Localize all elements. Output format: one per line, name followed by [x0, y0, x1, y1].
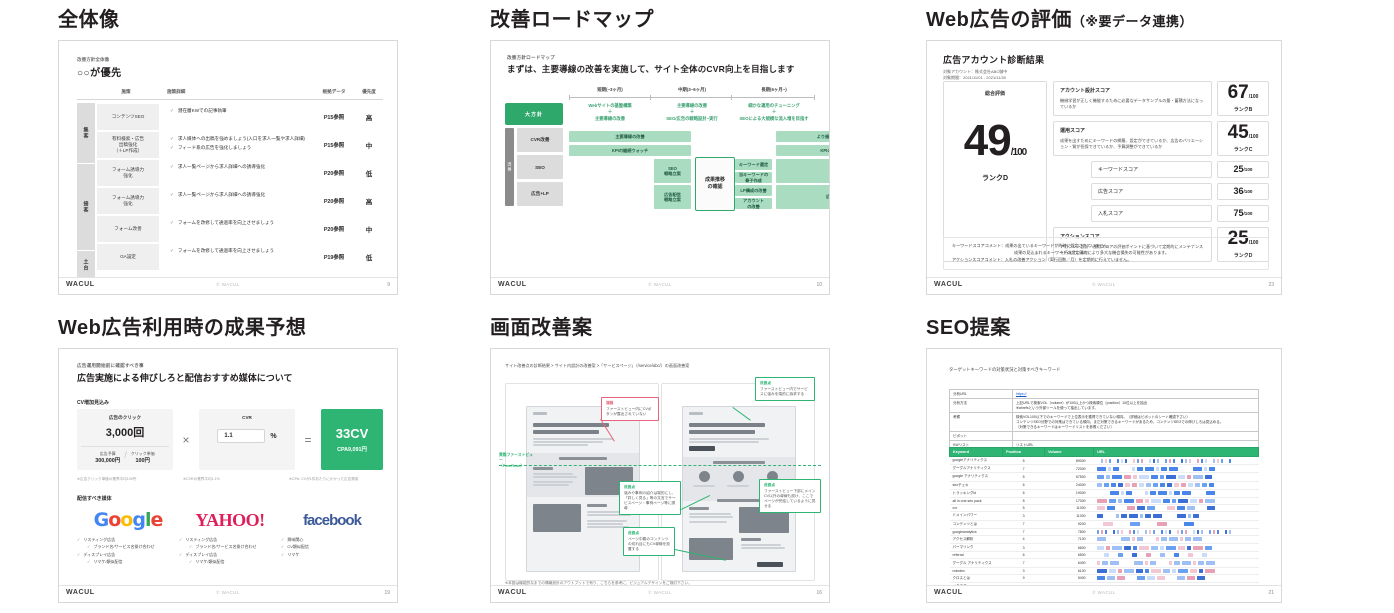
volume-cell: 19000	[1045, 489, 1094, 497]
keyword-cell: googleアナリティクス	[950, 457, 1003, 465]
card-title: 運用スコア	[1060, 127, 1205, 134]
url-cell	[1094, 465, 1259, 473]
copyright: © WACUL	[648, 282, 671, 287]
keyword-row: referral66500	[950, 552, 1259, 559]
slide3-title: 広告アカウント診断結果	[943, 53, 1044, 66]
percent-sign: %	[270, 433, 276, 440]
roadmap-box-midright-1: 当キーワードの 骨子作成	[735, 172, 772, 183]
keyword-row: アクセス解析47100	[950, 535, 1259, 543]
keyword-cell: all in one seo pack	[950, 497, 1003, 504]
position-cell: 7	[1003, 520, 1045, 528]
keyword-row: ドメインパワー311000	[950, 512, 1259, 520]
url-cell	[1094, 520, 1259, 528]
evidence-cell: P20参照	[313, 159, 355, 187]
section-title-ad-evaluation: Web広告の評価（※要データ連携）	[926, 10, 1282, 30]
wacul-logo: WACUL	[934, 589, 963, 596]
measure-cell: フォーム誘導力 強化	[97, 188, 159, 214]
section-forecast: Web広告利用時の成果予想 広告運用開始前に確認すべき事 広告実施による伸びしろ…	[58, 318, 398, 603]
column-header-measure: 施策	[95, 89, 157, 95]
comment-2: アクションスコアコメント：入札の改善アクション（実行回数／月）を定期的に行えてい…	[952, 257, 1260, 263]
detail-cell: ✓求人媒体への出稿を強めましょう(入口を求人一覧や求人詳細)✓フィード系の広告を…	[162, 131, 313, 159]
volume-cell: 6400	[1045, 559, 1094, 567]
table-row: GA設定✓フォームを改修して通過率を向上させましょうP19参照低	[95, 243, 383, 271]
col-volume: Volume	[1045, 448, 1094, 457]
measure-cell: フォーム誘導力 強化	[97, 160, 159, 186]
measure-cell: フォーム改善	[97, 216, 159, 242]
detail-cell: ✓求人一覧ページから求人詳細への誘導強化	[162, 187, 313, 215]
score-operation: 45/100 ランクC	[1217, 121, 1269, 156]
roadmap-box-midright-3: アカウント の改善	[735, 198, 772, 209]
divider-slash: /	[124, 451, 127, 461]
slide-footer: WACUL © WACUL 19	[59, 585, 397, 602]
click-card: 広告のクリック 3,000回 広告予算300,000円 / クリック単価100円	[77, 409, 173, 470]
wacul-logo: WACUL	[934, 281, 963, 288]
sub-score-label: キーワードスコア	[1091, 161, 1212, 178]
volume-cell: 6500	[1045, 552, 1094, 559]
phase-label-1: 中期(3~6ヶ月)	[651, 87, 733, 93]
total-score-rank: ランクD	[982, 173, 1008, 183]
slide-ad-evaluation[interactable]: 広告アカウント診断結果 対象アカウント：株式会社ABC御中 対象期間：2021/…	[926, 40, 1282, 295]
meta-key: 考察	[950, 413, 1013, 432]
detail-cell: ✓フォームを改修して通過率を向上させましょう	[162, 243, 313, 271]
detail-cell: ✓潜在層KWでの記事執筆	[162, 103, 313, 131]
card-desc: 機械学習が正しく機能するために必要なデータサンプルの量・蓄積方法になっているか	[1060, 98, 1205, 110]
cvr-label: CVR	[203, 415, 291, 420]
keyword-table-header: Keyword Position Volume URL	[950, 448, 1259, 457]
axis-label-0: 集客	[77, 103, 95, 163]
section-title-overview: 全体像	[58, 10, 398, 30]
meta-row: 分析URLhttps://	[950, 390, 1259, 399]
position-cell: 3	[1003, 544, 1045, 552]
position-cell: 5	[1003, 505, 1045, 512]
keyword-row: クロスとは95400	[950, 574, 1259, 582]
cv-forecast-label: CV増加見込み	[77, 399, 109, 406]
keyword-row: noindex36100	[950, 567, 1259, 574]
sub-score-ad: 広告スコア 36/100	[1091, 183, 1269, 200]
table-header-row: 施策 施策詳細 根拠データ 優先度	[77, 89, 383, 100]
slide-forecast[interactable]: 広告運用開始前に確認すべき事 広告実施による伸びしろと配信おすすめ媒体について …	[58, 348, 398, 603]
url-cell	[1094, 544, 1259, 552]
copyright: © WACUL	[1092, 590, 1115, 595]
media-bullet: ✓リスティング広告	[77, 537, 179, 542]
keyword-row: googleanalytics77800	[950, 528, 1259, 535]
wacul-logo: WACUL	[66, 281, 95, 288]
keyword-row: google アナリティクス567500	[950, 473, 1259, 481]
wacul-logo: WACUL	[498, 589, 527, 596]
operator-multiply: ×	[178, 409, 194, 470]
keyword-cell: グーグルアナリティクス	[950, 465, 1003, 473]
slide3-meta: 対象アカウント：株式会社ABC御中 対象期間：2021/11/01 - 2021…	[943, 69, 1044, 81]
roadmap-box-mid-1: 広告配信 戦略立案	[654, 185, 691, 209]
copyright: © WACUL	[1092, 282, 1115, 287]
table-row: フォーム誘導力 強化✓求人一覧ページから求人詳細への誘導強化P20参照高	[95, 187, 383, 215]
position-cell: 6	[1003, 552, 1045, 559]
cv-calculation: 広告のクリック 3,000回 広告予算300,000円 / クリック単価100円…	[77, 409, 383, 470]
score-body: 総合評価 49/100 ランクD アカウント設計スコア 機械学習が正しく機能する…	[943, 81, 1269, 262]
media-facebook: facebook ✓興味関心✓CV類似配信✓リマケ	[281, 507, 383, 567]
section-title-seo: SEO提案	[926, 318, 1282, 338]
position-cell: 7	[1003, 528, 1045, 535]
column-header-evidence: 根拠データ	[313, 89, 355, 95]
section-ad-evaluation: Web広告の評価（※要データ連携） 広告アカウント診断結果 対象アカウント：株式…	[926, 10, 1282, 295]
volume-cell: 7800	[1045, 528, 1094, 535]
media-bullet: ✓ディスプレイ広告	[77, 552, 179, 557]
detail-cell: ✓求人一覧ページから求人詳細への誘導強化	[162, 159, 313, 187]
section-title-roadmap: 改善ロードマップ	[490, 10, 830, 30]
measure-cell: 有料検索・広告 出稿強化 （＋LP作成）	[97, 132, 159, 158]
url-cell	[1094, 574, 1259, 582]
priority-cell: 中	[355, 215, 383, 243]
callout-improve-0: 改善点ファーストビュー内でサービスに強みを端的に訴求する	[755, 377, 815, 401]
card-title: アカウント設計スコア	[1060, 87, 1205, 94]
roadmap-box-mid-0: SEO 戦略立案	[654, 159, 691, 183]
page-number: 23	[1268, 282, 1274, 288]
policy-2: 細かな運用のチューニング ＋ SEOによる大規模な流入増を目指す	[733, 103, 815, 122]
axis-column: 集客 接客 土台	[77, 103, 95, 279]
slide-footer: WACUL © WACUL 16	[491, 585, 829, 602]
keyword-cell: cvr	[950, 505, 1003, 512]
volume-cell: 6100	[1045, 567, 1094, 574]
table-rows: コンテンツSEO✓潜在層KWでの記事執筆P15参照高有料検索・広告 出稿強化 （…	[95, 103, 383, 279]
evidence-cell: P20参照	[313, 215, 355, 243]
cpc-cell: クリック単価100円	[131, 451, 155, 465]
breadcrumb: サイト改善点の診断結果 > サイト内設計の改善案 >「サービスページ」（/ser…	[505, 363, 689, 369]
first-view-label: 実際ファーストビュー （PureRead）	[499, 453, 535, 469]
seo-meta-table: 分析URLhttps://分析方法上記URLで検索VOL（volume）が100…	[949, 389, 1259, 451]
media-bullet: ✓リマケ/類似配信	[77, 559, 179, 564]
media-columns: Google ✓リスティング広告✓ブランド名/サービス名掛け合わせ✓ディスプレイ…	[77, 507, 383, 567]
copyright: © WACUL	[216, 282, 239, 287]
slide-screen-improvement[interactable]: サイト改善点の診断結果 > サイト内設計の改善案 >「サービスページ」（/ser…	[490, 348, 830, 603]
url-cell	[1094, 481, 1259, 489]
url-cell	[1094, 489, 1259, 497]
meta-row: ピボット	[950, 432, 1259, 441]
sub-score-value: 25/100	[1217, 161, 1269, 178]
table-row: フォーム誘導力 強化✓求人一覧ページから求人詳細への誘導強化P20参照低	[95, 159, 383, 187]
roadmap-center-box: 成果推移 の確認	[695, 157, 735, 211]
page-number: 9	[387, 282, 390, 288]
sub-score-bid: 入札スコア 75/100	[1091, 205, 1269, 222]
keyword-row: googleアナリティクス589000	[950, 457, 1259, 465]
media-label: 配信すべき媒体	[77, 495, 112, 502]
media-bullet: ✓ディスプレイ広告	[179, 552, 281, 557]
volume-cell: 24000	[1045, 481, 1094, 489]
slide-footer: WACUL © WACUL 21	[927, 585, 1281, 602]
roadmap-grid: 主要導線の改善 KPIの継続ウォッチ SEO 戦略立案 広告配信 戦略立案 成果…	[569, 131, 815, 217]
meta-row: 分析方法上記URLで検索VOL（volume）が100以上かつ検索順位（posi…	[950, 399, 1259, 413]
callout-issue-0: 課題ファーストビュー内にCVボタンが露出されていない	[601, 397, 659, 421]
slide-roadmap[interactable]: 改善方針ロードマップ まずは、主要導線の改善を実施して、サイト全体のCVR向上を…	[490, 40, 830, 295]
score-row-design: アカウント設計スコア 機械学習が正しく機能するために必要なデータサンプルの量・蓄…	[1053, 81, 1269, 116]
volume-cell: 6600	[1045, 544, 1094, 552]
slide-footer: WACUL © WACUL 9	[59, 277, 397, 294]
phase-label-0: 短期(~3ヶ月)	[569, 87, 651, 93]
volume-cell: 9200	[1045, 520, 1094, 528]
keyword-row: コンテンツとは79200	[950, 520, 1259, 528]
priority-cell: 低	[355, 243, 383, 271]
detail-cell: ✓フォームを改修して通過率を向上させましょう	[162, 215, 313, 243]
media-bullet: ✓リマケ/類似配信	[179, 559, 281, 564]
roadmap-box-long-1: KPIの継続ウォッチ	[776, 145, 830, 156]
cvr-card: CVR 1.1 %	[199, 409, 295, 470]
score-rank: ランクB	[1234, 106, 1253, 113]
position-cell: 7	[1003, 559, 1045, 567]
url-cell	[1094, 552, 1259, 559]
slide4-header: 広告運用開始前に確認すべき事 広告実施による伸びしろと配信おすすめ媒体について	[77, 363, 292, 384]
keyword-cell: noindex	[950, 567, 1003, 574]
section-seo: SEO提案 ターゲットキーワードの対策状況と対策すべきキーワード 分析URLht…	[926, 318, 1282, 603]
measure-cell: GA設定	[97, 244, 159, 270]
col-position: Position	[1003, 448, 1045, 457]
column-header-detail: 施策詳細	[157, 89, 313, 95]
timeline-axis	[569, 97, 815, 98]
roadmap-box-long-2: 記事量産	[776, 159, 830, 183]
score-comments: キーワードスコアコメント：成果の出ているキーワードが的確に設定されていません。 …	[943, 237, 1269, 270]
card-operation: 運用スコア 成果を出すためにキーワードの網羅、設定ができているか、広告のバリエー…	[1053, 121, 1212, 156]
slide4-eyebrow: 広告運用開始前に確認すべき事	[77, 363, 292, 369]
keyword-row: all in one seo pack817000	[950, 497, 1259, 504]
slide-footer: WACUL © WACUL 23	[927, 277, 1281, 294]
position-cell: 7	[1003, 465, 1045, 473]
roadmap-box-midright-0: キーワード選定	[735, 159, 772, 170]
card-account-design: アカウント設計スコア 機械学習が正しく機能するために必要なデータサンプルの量・蓄…	[1053, 81, 1212, 116]
priority-cell: 低	[355, 159, 383, 187]
keyword-row: グーグル アナリティクス76400	[950, 559, 1259, 567]
phase-labels: 短期(~3ヶ月) 中期(3~6ヶ月) 長期(6ヶ月~)	[569, 87, 815, 93]
table-row: コンテンツSEO✓潜在層KWでの記事執筆P15参照高	[95, 103, 383, 131]
axis-label-1: 接客	[77, 164, 95, 250]
priority-cell: 高	[355, 103, 383, 131]
keyword-row: グーグルアナリティクス772000	[950, 465, 1259, 473]
page-number: 19	[384, 590, 390, 596]
evidence-cell: P20参照	[313, 187, 355, 215]
evidence-cell: P19参照	[313, 243, 355, 271]
meta-key: ピボット	[950, 432, 1013, 441]
section-overview: 全体像 改善方針全体像 ○○が優先 施策 施策詳細 根拠データ 優先度 集客 接…	[58, 10, 398, 295]
section-title-screen-improvement: 画面改善案	[490, 318, 830, 338]
keyword-cell: referral	[950, 552, 1003, 559]
seo-keyword-table: Keyword Position Volume URL googleアナリティク…	[949, 447, 1259, 603]
position-cell: 4	[1003, 535, 1045, 543]
media-google: Google ✓リスティング広告✓ブランド名/サービス名掛け合わせ✓ディスプレイ…	[77, 507, 179, 567]
url-cell	[1094, 567, 1259, 574]
meta-key: 分析URL	[950, 390, 1013, 399]
position-cell: 8	[1003, 497, 1045, 504]
keyword-cell: グーグル アナリティクス	[950, 559, 1003, 567]
comment-0: キーワードスコアコメント：成果の出ているキーワードが的確に設定されていません。	[952, 243, 1260, 249]
analysis-url-link[interactable]: https://	[1016, 392, 1027, 396]
keyword-cell: トラッキングid	[950, 489, 1003, 497]
note-cpa: ※CPA: CVが1件あたりにかかった広告費用	[289, 477, 383, 482]
url-cell	[1094, 535, 1259, 543]
table-body: 集客 接客 土台 コンテンツSEO✓潜在層KWでの記事執筆P15参照高有料検索・…	[77, 103, 383, 279]
url-cell	[1094, 512, 1259, 520]
keyword-row: パーマリンク36600	[950, 544, 1259, 552]
position-cell: 6	[1003, 481, 1045, 489]
url-cell	[1094, 497, 1259, 504]
budget-cell: 広告予算300,000円	[95, 451, 120, 465]
score-cards: アカウント設計スコア 機械学習が正しく機能するために必要なデータサンプルの量・蓄…	[1053, 81, 1269, 262]
policy-1: 主要導線の改善 ＋ SEO/広告の戦略設計~実行	[651, 103, 733, 122]
slide2-eyebrow: 改善方針ロードマップ	[507, 55, 795, 61]
operator-equals: =	[300, 409, 316, 470]
roadmap-box-midright-2: LP構成の改善	[735, 185, 772, 196]
meta-value	[1013, 432, 1259, 441]
copyright: © WACUL	[648, 590, 671, 595]
callout-improve-2: 改善点ファーストビュー下部にメインCV以外の導線も設け、ここでページが完結してい…	[759, 479, 821, 513]
lane-labels: CVR改善 SEO 広告+LP	[517, 128, 563, 206]
lane-label-2: 広告+LP	[517, 182, 563, 206]
sub-score-value: 36/100	[1217, 183, 1269, 200]
slide3-header: 広告アカウント診断結果 対象アカウント：株式会社ABC御中 対象期間：2021/…	[943, 53, 1044, 81]
score-value: 67/100	[1228, 83, 1259, 102]
result-cv: 33CV	[336, 426, 369, 441]
slide1-eyebrow: 改善方針全体像	[77, 57, 383, 63]
keyword-cell: google アナリティクス	[950, 473, 1003, 481]
media-bullet: ✓リスティング広告	[179, 537, 281, 542]
media-bullet: ✓ブランド名/サービス名掛け合わせ	[77, 544, 179, 549]
keyword-cell: アクセス解析	[950, 535, 1003, 543]
total-score-label: 総合評価	[985, 90, 1005, 97]
meta-row: 考察検索VOL100以下でのキーワードで上位表示を獲得できていない傾向。（詳細は…	[950, 413, 1259, 432]
policy-labels: Webサイトの基盤構築 ＋ 主要導線の改善 主要導線の改善 ＋ SEO/広告の戦…	[569, 103, 815, 122]
volume-cell: 7100	[1045, 535, 1094, 543]
meta-value: 上記URLで検索VOL（volume）が100以上かつ検索順位（position…	[1013, 399, 1259, 413]
volume-cell: 17000	[1045, 497, 1094, 504]
evidence-cell: P15参照	[313, 103, 355, 131]
position-cell: 9	[1003, 574, 1045, 582]
note-cpc: ※広告クリック単価の業界平均100円	[77, 477, 178, 482]
google-logo: Google	[77, 507, 179, 533]
url-cell	[1094, 457, 1259, 465]
sub-score-keyword: キーワードスコア 25/100	[1091, 161, 1269, 178]
measure-cell: コンテンツSEO	[97, 104, 159, 130]
roadmap-box-long-3: 広告配信調整	[776, 185, 830, 209]
yahoo-logo: YAHOO!	[179, 507, 281, 533]
comment-1: 成果の見込まれるキーワードの設定漏れにより多大な機会損失の可能性があります。	[952, 250, 1260, 256]
wacul-logo: WACUL	[66, 589, 95, 596]
roadmap-left-rail: 大方針 改善 CVR改善 SEO 広告+LP	[505, 103, 563, 206]
note-cvr: ※CVRの業界平均1.1%	[183, 477, 284, 482]
callout-improve-1: 改善点強みや事例の紹介は端的にし、「詳しく見る」等の文言でサービスページ・事例ペ…	[619, 481, 681, 515]
slide4-title: 広告実施による伸びしろと配信おすすめ媒体について	[77, 371, 292, 384]
col-url: URL	[1094, 448, 1259, 457]
vertical-improve-label: 改善	[505, 128, 514, 206]
volume-cell: 11000	[1045, 512, 1094, 520]
media-bullet: ✓リマケ	[281, 552, 383, 557]
copyright: © WACUL	[216, 590, 239, 595]
slide1-header: 改善方針全体像 ○○が優先	[77, 57, 383, 79]
keyword-cell: パーマリンク	[950, 544, 1003, 552]
cvr-input[interactable]: 1.1	[217, 429, 265, 443]
callout-improve-3: 改善点ページ中腹のコンテンツの切れ目にもCV導線を設置する	[623, 527, 675, 556]
keyword-row: cvr511000	[950, 505, 1259, 512]
score-account-design: 67/100 ランクB	[1217, 81, 1269, 116]
keyword-cell: seoチェキ	[950, 481, 1003, 489]
keyword-cell: コンテンツとは	[950, 520, 1003, 528]
table-row: フォーム改善✓フォームを改修して通過率を向上させましょうP20参照中	[95, 215, 383, 243]
volume-cell: 5400	[1045, 574, 1094, 582]
evidence-cell: P15参照	[313, 131, 355, 159]
volume-cell: 67500	[1045, 473, 1094, 481]
result-cpa: CPA9,091円	[337, 445, 367, 453]
meta-value: 検索VOL100以下でのキーワードで上位表示を獲得できていない傾向。（詳細はピボ…	[1013, 413, 1259, 432]
lane-label-0: CVR改善	[517, 128, 563, 152]
sub-score-label: 入札スコア	[1091, 205, 1212, 222]
roadmap-box-short-0: 主要導線の改善	[569, 131, 691, 142]
priority-cell: 高	[355, 187, 383, 215]
volume-cell: 89000	[1045, 457, 1094, 465]
slide1-title: ○○が優先	[77, 64, 383, 79]
column-header-priority: 優先度	[355, 89, 383, 95]
slide-seo[interactable]: ターゲットキーワードの対策状況と対策すべきキーワード 分析URLhttps://…	[926, 348, 1282, 603]
click-card-title: 広告のクリック	[81, 415, 169, 421]
url-cell	[1094, 473, 1259, 481]
media-bullet: ✓CV類似配信	[281, 544, 383, 549]
slide-overview[interactable]: 改善方針全体像 ○○が優先 施策 施策詳細 根拠データ 優先度 集客 接客 土台	[58, 40, 398, 295]
roadmap-box-short-1: KPIの継続ウォッチ	[569, 145, 691, 156]
page-number: 10	[816, 282, 822, 288]
result-card: 33CV CPA9,091円	[321, 409, 383, 470]
url-cell	[1094, 528, 1259, 535]
facebook-logo: facebook	[281, 507, 383, 533]
volume-cell: 72000	[1045, 465, 1094, 473]
url-cell	[1094, 559, 1259, 567]
position-cell: 6	[1003, 489, 1045, 497]
slide-footer: WACUL © WACUL 10	[491, 277, 829, 294]
meta-key: 分析方法	[950, 399, 1013, 413]
col-keyword: Keyword	[950, 448, 1003, 457]
total-score-card: 総合評価 49/100 ランクD	[943, 81, 1047, 262]
position-cell: 5	[1003, 457, 1045, 465]
slide2-header: 改善方針ロードマップ まずは、主要導線の改善を実施して、サイト全体のCVR向上を…	[507, 55, 795, 75]
priority-cell: 中	[355, 131, 383, 159]
position-cell: 3	[1003, 567, 1045, 574]
position-cell: 3	[1003, 512, 1045, 520]
keyword-row: seoチェキ624000	[950, 481, 1259, 489]
score-value: 45/100	[1228, 123, 1259, 142]
sub-score-label: 広告スコア	[1091, 183, 1212, 200]
big-policy-chip: 大方針	[505, 103, 563, 125]
section-roadmap: 改善ロードマップ 改善方針ロードマップ まずは、主要導線の改善を実施して、サイト…	[490, 10, 830, 295]
keyword-cell: googleanalytics	[950, 528, 1003, 535]
total-score-value: 49/100	[964, 119, 1026, 163]
table-row: 有料検索・広告 出稿強化 （＋LP作成）✓求人媒体への出稿を強めましょう(入口を…	[95, 131, 383, 159]
seo-lead: ターゲットキーワードの対策状況と対策すべきキーワード	[949, 367, 1060, 373]
slide2-title: まずは、主要導線の改善を実施して、サイト全体のCVR向上を目指します	[507, 63, 795, 75]
url-cell	[1094, 505, 1259, 512]
meta-value: https://	[1013, 390, 1259, 399]
fold-line	[499, 465, 821, 466]
roadmap-box-long-0: より細かなUI・UX改善	[776, 131, 830, 142]
lane-label-1: SEO	[517, 155, 563, 179]
volume-cell: 11000	[1045, 505, 1094, 512]
axis-label-2: 土台	[77, 251, 95, 279]
keyword-row: トラッキングid619000	[950, 489, 1259, 497]
score-row-operation: 運用スコア 成果を出すためにキーワードの網羅、設定ができているか、広告のバリエー…	[1053, 121, 1269, 156]
wacul-logo: WACUL	[498, 281, 527, 288]
page-number: 21	[1268, 590, 1274, 596]
position-cell: 5	[1003, 473, 1045, 481]
card-desc: 成果を出すためにキーワードの網羅、設定ができているか、広告のバリエーション・質が…	[1060, 138, 1205, 150]
media-bullet: ✓興味関心	[281, 537, 383, 542]
slide1-table: 施策 施策詳細 根拠データ 優先度 集客 接客 土台 コンテンツSEO✓潜在層K…	[77, 89, 383, 279]
phase-label-2: 長期(6ヶ月~)	[733, 87, 815, 93]
policy-0: Webサイトの基盤構築 ＋ 主要導線の改善	[569, 103, 651, 122]
calculation-notes: ※広告クリック単価の業界平均100円 ※CVRの業界平均1.1% ※CPA: C…	[77, 477, 383, 482]
keyword-cell: ドメインパワー	[950, 512, 1003, 520]
keyword-cell: クロスとは	[950, 574, 1003, 582]
